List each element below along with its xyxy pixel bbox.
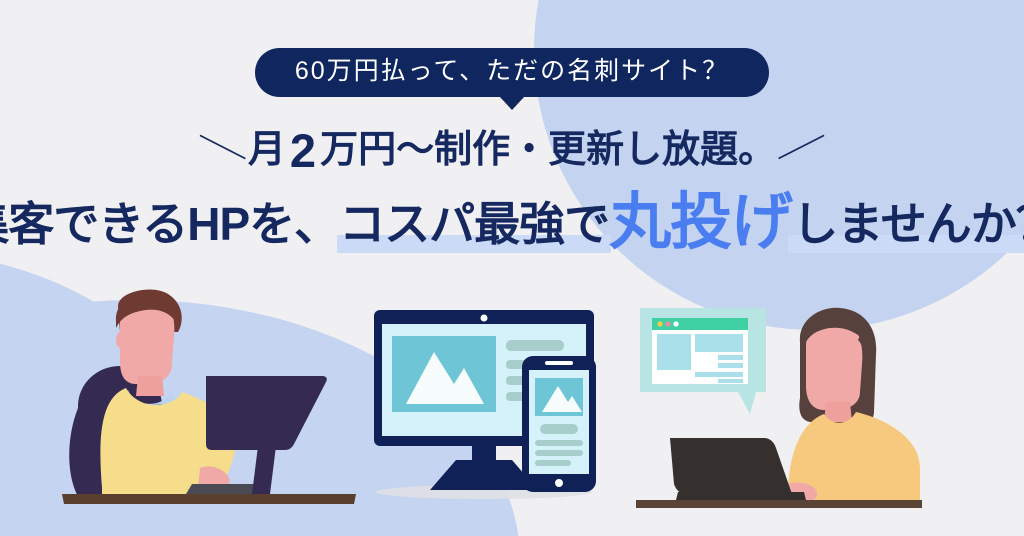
question-badge-label: 60万円払って、ただの名刺サイト？ (255, 48, 769, 97)
browser-image-block (657, 334, 691, 370)
slash-left-icon: ＼ (197, 122, 249, 176)
headline-accent: 丸投げ (609, 192, 792, 254)
phone-text-bar (535, 460, 571, 466)
phone-text-bar (540, 424, 578, 434)
main-headline: 集客できるHPを、 コスパ最強で 丸投げ しませんか？ (0, 189, 1024, 251)
headline-part1: 集客できるHPを、 (0, 201, 339, 247)
browser-hero-block (695, 334, 743, 352)
phone-text-bar (535, 450, 583, 456)
phone-text-bar (535, 440, 583, 446)
headline-highlight: コスパ最強で (339, 201, 609, 247)
browser-text-bar (718, 379, 743, 383)
question-badge: 60万円払って、ただの名刺サイト？ (255, 48, 769, 97)
subheadline-emphasis-number: 2 (290, 132, 316, 170)
browser-text-bar (695, 372, 743, 377)
subheadline: ＼ 月 2 万円〜制作・更新し放題。 ／ (0, 129, 1024, 173)
browser-text-bar (718, 355, 743, 360)
monitor-stand-shape (252, 446, 276, 494)
browser-dot-icon (673, 321, 678, 326)
subheadline-part2: 万円〜制作・更新し放題。 (320, 130, 776, 172)
desk-surface-shape (62, 494, 356, 504)
monitor-text-bar (506, 340, 564, 351)
illustration-woman-at-laptop (634, 300, 924, 536)
subheadline-part1: 月 (248, 130, 286, 172)
slash-right-icon: ／ (775, 122, 827, 176)
badge-pointer-icon (499, 96, 525, 110)
phone-home-button-icon (555, 479, 563, 487)
headline-part2: しませんか？ (792, 201, 1024, 247)
monitor-camera-icon (481, 315, 488, 322)
headline-block: 60万円払って、ただの名刺サイト？ ＼ 月 2 万円〜制作・更新し放題。 ／ 集… (0, 0, 1024, 251)
desk-surface-shape (636, 500, 922, 508)
promo-banner: 60万円払って、ただの名刺サイト？ ＼ 月 2 万円〜制作・更新し放題。 ／ 集… (0, 0, 1024, 536)
browser-text-bar (718, 363, 743, 368)
laptop-screen-shape (670, 438, 792, 494)
illustration-man-at-desktop (60, 288, 370, 536)
monitor-screen-shape (206, 376, 327, 450)
browser-dot-icon (665, 321, 670, 326)
neck-shape (136, 376, 164, 396)
laptop-base-shape (676, 492, 806, 500)
ear-shape (116, 331, 128, 349)
browser-dot-icon (657, 321, 662, 326)
phone-speaker-icon (545, 361, 573, 365)
illustration-responsive-devices (372, 300, 632, 536)
